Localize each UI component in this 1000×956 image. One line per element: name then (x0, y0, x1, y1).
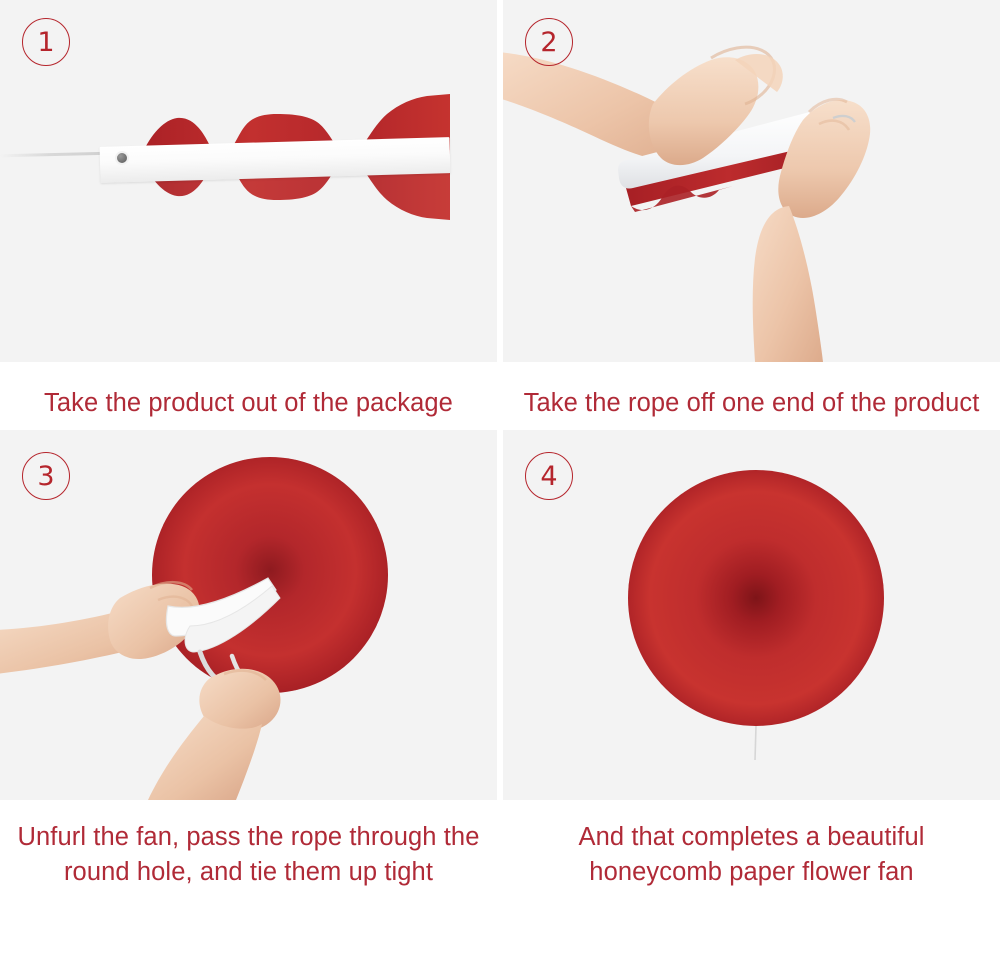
step-card-3: 3 (0, 430, 497, 908)
steps-grid: 1 (0, 0, 1000, 956)
step-card-1: 1 (0, 0, 497, 430)
unfurling-fan-illustration (0, 430, 497, 800)
step-caption-3: Unfurl the fan, pass the rope through th… (0, 800, 497, 908)
instruction-sheet: 1 (0, 0, 1000, 956)
step-number-badge-2: 2 (525, 18, 573, 66)
step-caption-4: And that completes a beautiful honeycomb… (503, 800, 1000, 908)
finished-fan-illustration (503, 430, 1000, 800)
right-forearm (753, 206, 823, 362)
white-string (0, 152, 110, 157)
step-caption-1: Take the product out of the package (0, 362, 497, 430)
finished-fan (628, 470, 884, 726)
step-photo-2: 2 (503, 0, 1000, 362)
opened-fan (152, 457, 388, 693)
step-number-badge-1: 1 (22, 18, 70, 66)
step-number-badge-3: 3 (22, 452, 70, 500)
step-number-badge-4: 4 (525, 452, 573, 500)
step-card-2: 2 (503, 0, 1000, 430)
step-card-4: 4 (503, 430, 1000, 908)
hanging-string (755, 726, 756, 760)
step-caption-2: Take the rope off one end of the product (503, 362, 1000, 430)
step-photo-3: 3 (0, 430, 497, 800)
step-photo-4: 4 (503, 430, 1000, 800)
folded-fan-strip (95, 92, 455, 222)
step-photo-1: 1 (0, 0, 497, 362)
hands-holding-strip-illustration (503, 0, 1000, 362)
